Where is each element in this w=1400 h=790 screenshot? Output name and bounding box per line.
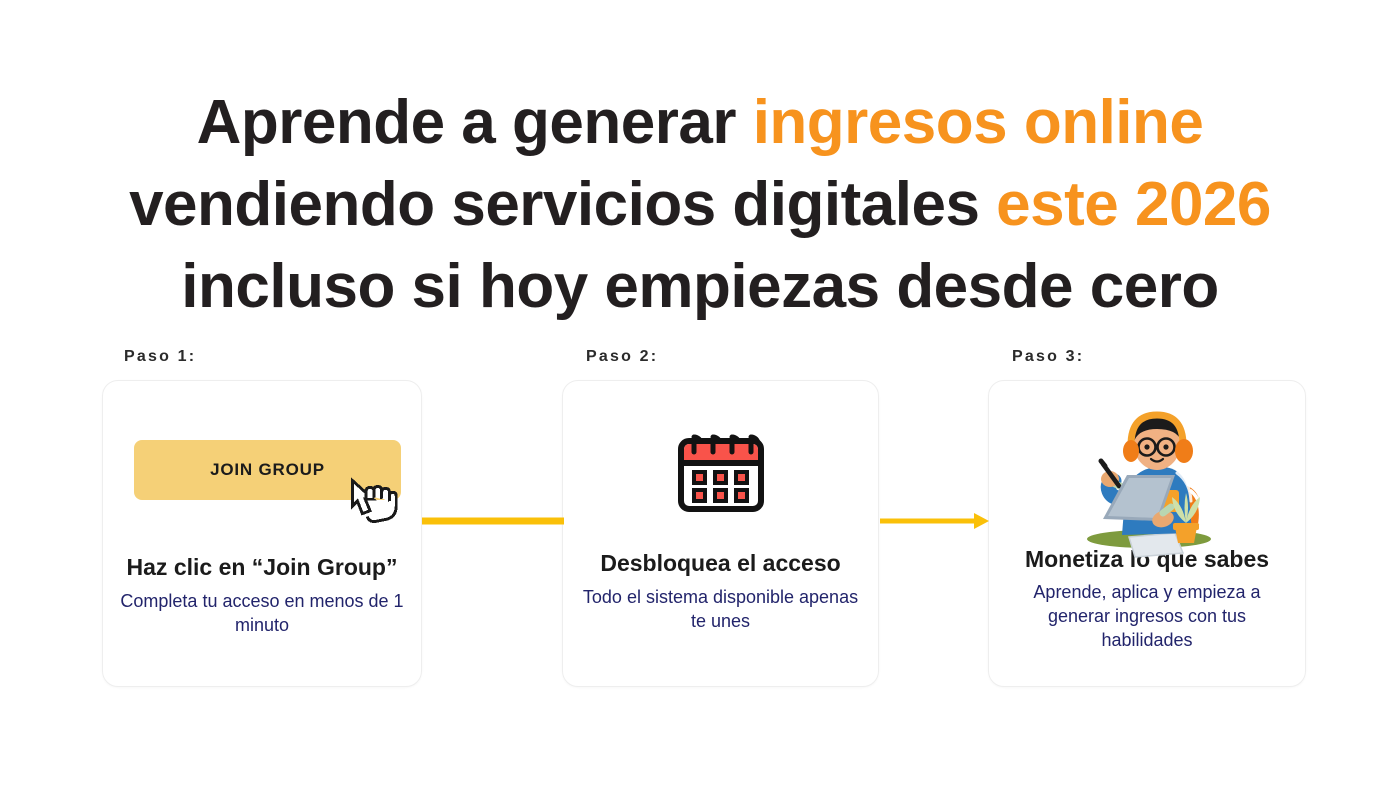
step-card-2: Paso 2: xyxy=(562,348,882,687)
card-2-title: Desbloquea el acceso xyxy=(563,549,878,577)
headline-line-1-plain: Aprende a generar xyxy=(197,88,753,157)
person-working-laptop-illustration xyxy=(1067,411,1227,561)
card-step-1: JOIN GROUP Haz clic xyxy=(102,380,422,687)
headline-line-3: incluso si hoy empiezas desde cero xyxy=(0,246,1400,328)
headline-line-1: Aprende a generar ingresos online xyxy=(0,82,1400,164)
card-3-visual xyxy=(989,381,1305,549)
pointer-hand-cursor-icon xyxy=(341,471,403,533)
headline-line-1-accent: ingresos online xyxy=(753,88,1204,157)
step-3-label: Paso 3: xyxy=(1012,348,1308,366)
card-2-visual xyxy=(563,381,878,549)
card-2-description: Todo el sistema disponible apenas te une… xyxy=(563,585,878,633)
step-1-label: Paso 1: xyxy=(124,348,422,366)
card-step-3: Monetiza lo que sabes Aprende, aplica y … xyxy=(988,380,1306,687)
connector-step2-to-step3 xyxy=(880,510,990,532)
step-card-1: Paso 1: JOIN GROUP xyxy=(102,348,422,687)
card-3-description: Aprende, aplica y empieza a generar ingr… xyxy=(989,580,1305,652)
headline-line-2: vendiendo servicios digitales este 2026 xyxy=(0,164,1400,246)
card-1-description: Completa tu acceso en menos de 1 minuto xyxy=(103,589,421,637)
calendar-icon xyxy=(673,421,769,522)
card-1-title: Haz clic en “Join Group” xyxy=(103,553,421,581)
connector-step1-to-step2 xyxy=(422,510,564,532)
headline-line-2-plain: vendiendo servicios digitales xyxy=(129,170,996,239)
step-2-label: Paso 2: xyxy=(586,348,882,366)
card-step-2: Desbloquea el acceso Todo el sistema dis… xyxy=(562,380,879,687)
card-1-visual: JOIN GROUP xyxy=(103,381,421,549)
step-card-3: Paso 3: xyxy=(988,348,1308,687)
page-title: Aprende a generar ingresos online vendie… xyxy=(0,82,1400,328)
steps-section: Paso 1: JOIN GROUP xyxy=(0,348,1400,693)
headline-line-2-accent: este 2026 xyxy=(996,170,1271,239)
